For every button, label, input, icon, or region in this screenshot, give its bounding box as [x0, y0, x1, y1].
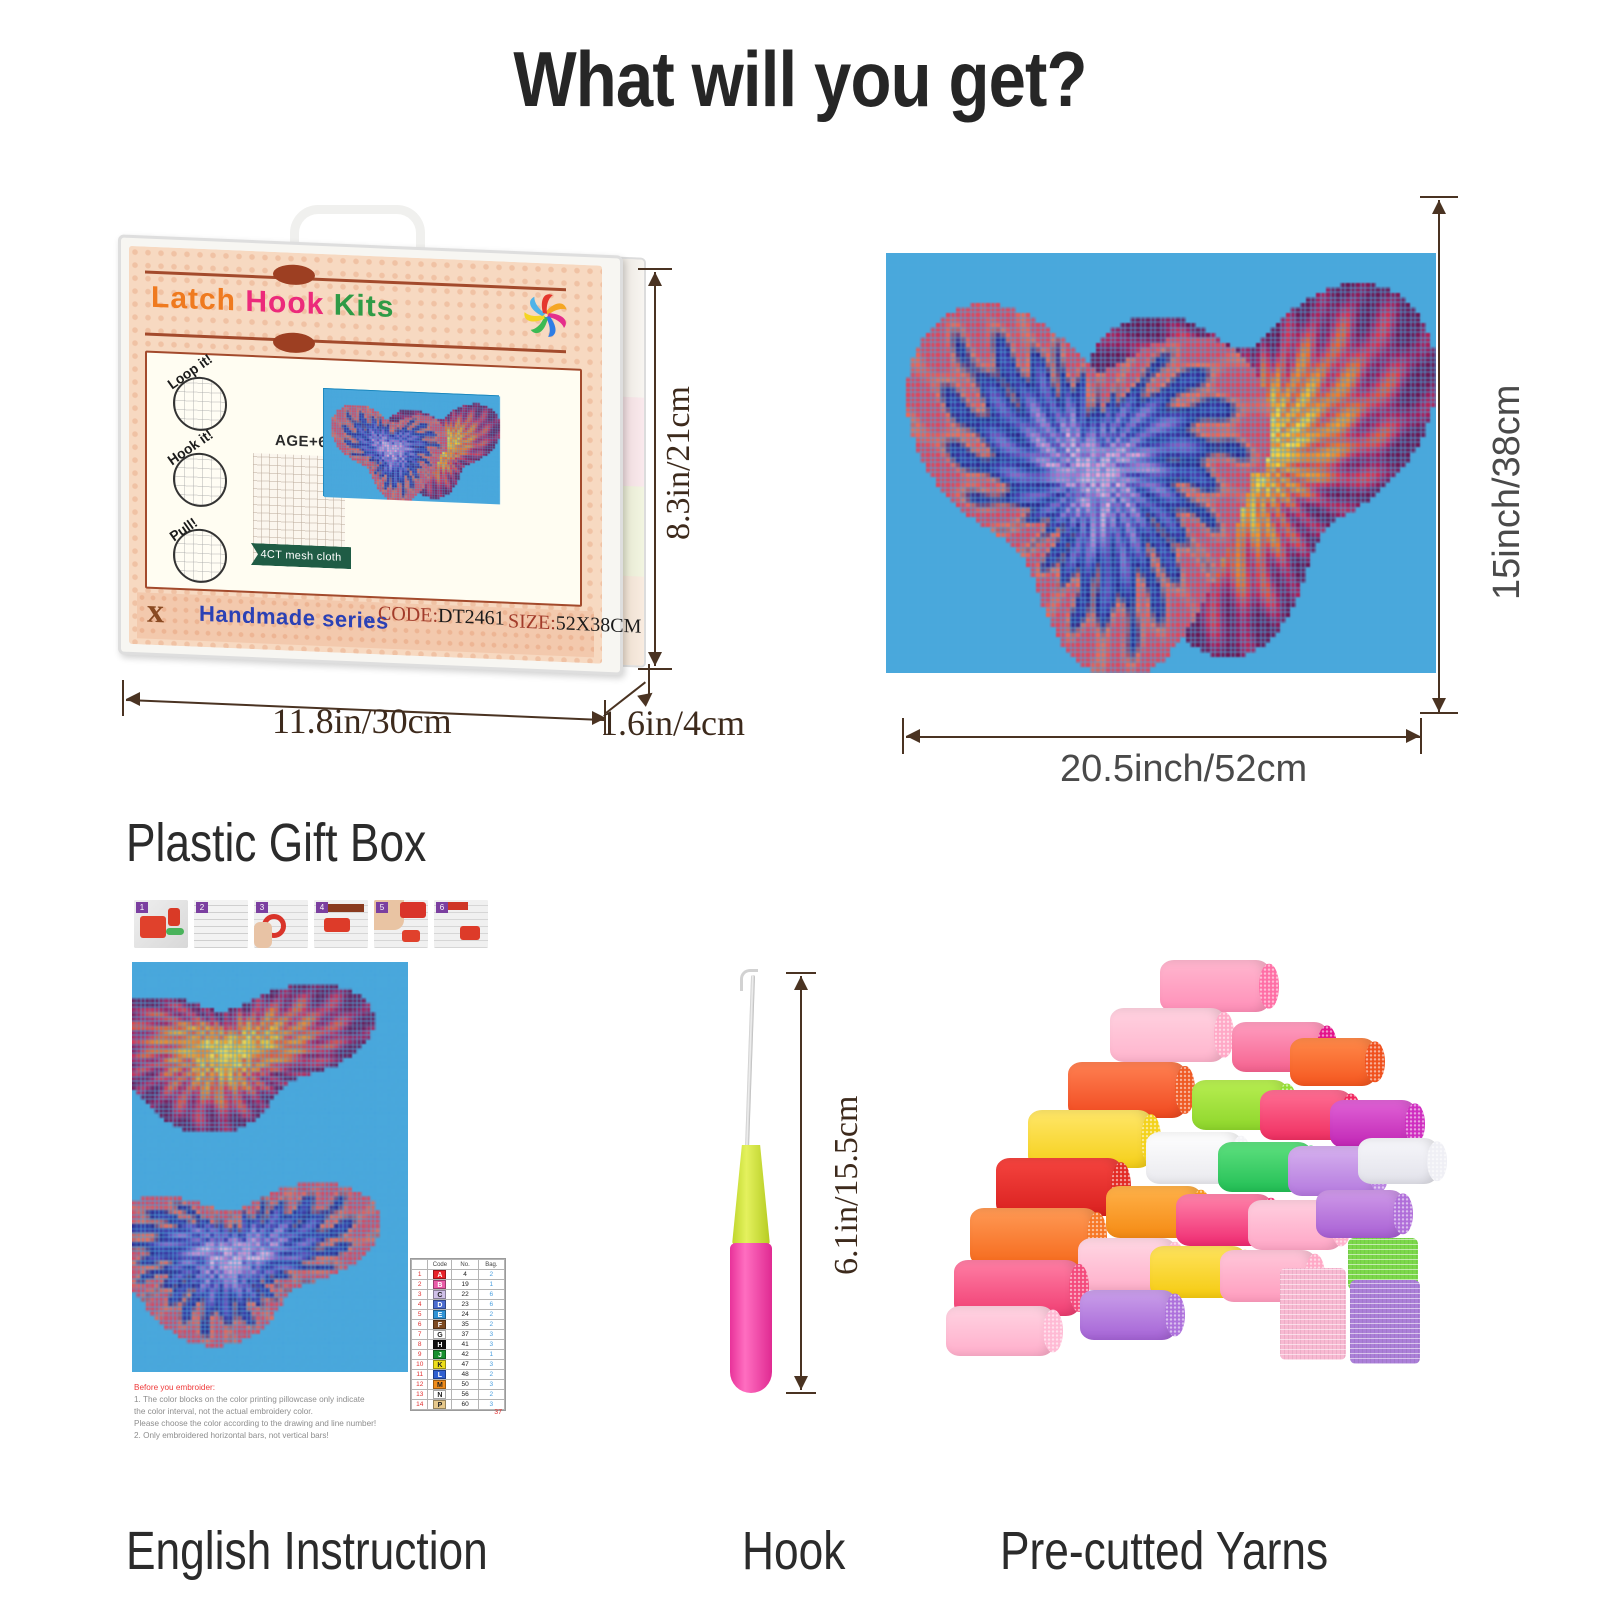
legend-index: 9	[412, 1350, 428, 1360]
legend-color-swatch: C	[428, 1290, 452, 1300]
hook-decoration-icon: x	[147, 595, 187, 635]
legend-bag: 1	[478, 1280, 504, 1290]
legend-row: 1A42	[412, 1270, 505, 1280]
legend-color-swatch: E	[428, 1310, 452, 1320]
legend-index: 1	[412, 1270, 428, 1280]
legend-bag: 3	[478, 1360, 504, 1370]
instruction-step-thumb: 1	[134, 900, 188, 948]
step-number: 6	[436, 902, 448, 913]
hook-handle-upper	[732, 1145, 770, 1245]
yarn-bundle	[1316, 1190, 1404, 1238]
legend-header-no: No.	[452, 1260, 478, 1270]
printed-canvas-artwork	[886, 253, 1436, 673]
legend-bag: 3	[478, 1330, 504, 1340]
legend-bag: 3	[478, 1380, 504, 1390]
legend-no: 4	[452, 1270, 478, 1280]
latch-hook-tool	[716, 965, 786, 1385]
instruction-step-thumb: 4	[314, 900, 368, 948]
yarn-mesh-bundle-purple	[1350, 1280, 1420, 1364]
legend-bag: 3	[478, 1400, 504, 1410]
legend-index: 6	[412, 1320, 428, 1330]
legend-color-swatch: N	[428, 1390, 452, 1400]
box-code: CODE:DT2461	[378, 602, 505, 711]
box-depth-value: 1.6in/4cm	[600, 702, 745, 744]
box-width-value: 11.8in/30cm	[272, 700, 452, 742]
instruction-chart-artwork	[132, 962, 408, 1372]
legend-color-swatch: L	[428, 1370, 452, 1380]
legend-row: 3C226	[412, 1290, 505, 1300]
legend-row: 8H413	[412, 1340, 505, 1350]
legend-header-row: Code No. Bag.	[412, 1260, 505, 1270]
box-front-panel: Latch Hook Kits	[129, 246, 602, 664]
legend-bag: 2	[478, 1270, 504, 1280]
legend-index: 13	[412, 1390, 428, 1400]
hook-needle	[745, 975, 755, 1150]
notes-heading: Before you embroider:	[134, 1382, 404, 1394]
brand-word-kits: Kits	[334, 288, 395, 324]
legend-row: 10K473	[412, 1360, 505, 1370]
legend-bag: 2	[478, 1390, 504, 1400]
legend-color-swatch: B	[428, 1280, 452, 1290]
legend-index: 5	[412, 1310, 428, 1320]
legend-header-bag: Bag.	[478, 1260, 504, 1270]
legend-header-index	[412, 1260, 428, 1270]
legend-row: 11L482	[412, 1370, 505, 1380]
canvas-width-value: 20.5inch/52cm	[1060, 748, 1307, 791]
legend-no: 50	[452, 1380, 478, 1390]
legend-color-swatch: P	[428, 1400, 452, 1410]
legend-bag: 2	[478, 1370, 504, 1380]
legend-index: 10	[412, 1360, 428, 1370]
box-code-key: CODE:	[378, 602, 438, 627]
instruction-notes: Before you embroider: 1. The color block…	[134, 1382, 404, 1441]
legend-no: 37	[452, 1330, 478, 1340]
notes-line-3: Please choose the color according to the…	[134, 1418, 404, 1430]
legend-row: 6F352	[412, 1320, 505, 1330]
color-legend-table: Code No. Bag. 1A422B1913C2264D2365E2426F…	[410, 1258, 506, 1411]
legend-row: 4D236	[412, 1300, 505, 1310]
box-size-key: SIZE:	[508, 610, 556, 634]
instruction-step-thumb: 3	[254, 900, 308, 948]
hook-length-value: 6.1in/15.5cm	[828, 1096, 866, 1275]
legend-color-swatch: G	[428, 1330, 452, 1340]
box-code-value: DT2461	[438, 605, 505, 630]
legend-bag: 6	[478, 1290, 504, 1300]
caption-english-instruction: English Instruction	[126, 1520, 488, 1582]
caption-yarns: Pre-cutted Yarns	[1000, 1520, 1328, 1582]
gift-box-illustration: Latch Hook Kits	[118, 205, 648, 675]
mesh-ribbon-label: 4CT mesh cloth	[251, 543, 351, 569]
legend-index: 11	[412, 1370, 428, 1380]
legend-bag: 6	[478, 1300, 504, 1310]
box-body: Latch Hook Kits	[118, 234, 623, 675]
legend-index: 8	[412, 1340, 428, 1350]
instruction-step-thumbnails: 1 2 3 4 5	[134, 900, 494, 950]
instruction-step-thumb: 5	[374, 900, 428, 948]
caption-gift-box: Plastic Gift Box	[126, 812, 426, 874]
hook-barb-icon	[740, 969, 758, 991]
handmade-series-label: Handmade series	[199, 601, 389, 635]
step-number: 2	[196, 902, 208, 913]
legend-no: 41	[452, 1340, 478, 1350]
legend-index: 12	[412, 1380, 428, 1390]
yarn-bundle	[1358, 1138, 1438, 1184]
hook-handle-lower	[730, 1243, 772, 1393]
legend-no: 24	[452, 1310, 478, 1320]
yarn-bundle	[1110, 1008, 1225, 1062]
legend-color-swatch: F	[428, 1320, 452, 1330]
yarn-bundle	[1080, 1290, 1176, 1340]
box-artwork-photo	[323, 388, 499, 503]
yarn-bundle	[1290, 1038, 1376, 1086]
pinwheel-logo-icon	[518, 286, 574, 344]
legend-total: 37	[494, 1409, 502, 1416]
legend-bag: 2	[478, 1310, 504, 1320]
legend-color-swatch: H	[428, 1340, 452, 1350]
yarn-mesh-bundle-pink	[1280, 1268, 1346, 1360]
pre-cutted-yarns-pile	[960, 950, 1460, 1410]
notes-line-4: 2. Only embroidered horizontal bars, not…	[134, 1430, 404, 1442]
box-size-value: 52X38CM	[556, 612, 642, 638]
legend-header-code: Code	[428, 1260, 452, 1270]
legend-row: 12M503	[412, 1380, 505, 1390]
brand-title: Latch Hook Kits	[151, 281, 394, 325]
legend-bag: 2	[478, 1320, 504, 1330]
box-inner-card: Loop it! Hook it! Pull! AGE+6 ! 4CT mesh…	[145, 351, 582, 607]
legend-no: 47	[452, 1360, 478, 1370]
yarn-bundle	[946, 1306, 1054, 1356]
legend-bag: 1	[478, 1350, 504, 1360]
notes-line-2: the color interval, not the actual embro…	[134, 1406, 404, 1418]
legend-no: 19	[452, 1280, 478, 1290]
legend-index: 2	[412, 1280, 428, 1290]
legend-no: 48	[452, 1370, 478, 1380]
legend-no: 60	[452, 1400, 478, 1410]
instruction-step-thumb: 2	[194, 900, 248, 948]
legend-row: 5E242	[412, 1310, 505, 1320]
legend-no: 23	[452, 1300, 478, 1310]
legend-row: 9J421	[412, 1350, 505, 1360]
infographic-page: What will you get? Latch Hook Kits	[0, 0, 1600, 1600]
legend-row: 7G373	[412, 1330, 505, 1340]
yarn-bundle	[1160, 960, 1270, 1012]
legend-color-swatch: A	[428, 1270, 452, 1280]
legend-index: 4	[412, 1300, 428, 1310]
legend-row: 13N562	[412, 1390, 505, 1400]
legend-no: 42	[452, 1350, 478, 1360]
legend-index: 14	[412, 1400, 428, 1410]
legend-color-swatch: M	[428, 1380, 452, 1390]
legend-color-swatch: K	[428, 1360, 452, 1370]
legend-row: 14P603	[412, 1400, 505, 1410]
notes-line-1: 1. The color blocks on the color printin…	[134, 1394, 404, 1406]
legend-color-swatch: J	[428, 1350, 452, 1360]
legend-bag: 3	[478, 1340, 504, 1350]
legend-no: 22	[452, 1290, 478, 1300]
series-mark: ”	[367, 616, 374, 631]
english-instruction-sheet: 1 2 3 4 5	[128, 900, 628, 1460]
legend-index: 7	[412, 1330, 428, 1340]
caption-hook: Hook	[742, 1520, 845, 1582]
step-number: 1	[136, 902, 148, 913]
legend-index: 3	[412, 1290, 428, 1300]
legend-no: 56	[452, 1390, 478, 1400]
step-number: 5	[376, 902, 388, 913]
legend-row: 2B191	[412, 1280, 505, 1290]
canvas-height-value: 15inch/38cm	[1486, 385, 1529, 600]
box-brand-bar: Latch Hook Kits	[145, 265, 592, 362]
step-number: 4	[316, 902, 328, 913]
brand-word-latch: Latch	[151, 281, 236, 318]
box-height-value: 8.3in/21cm	[660, 386, 698, 540]
legend-color-swatch: D	[428, 1300, 452, 1310]
step-number: 3	[256, 902, 268, 913]
page-title: What will you get?	[112, 34, 1488, 125]
legend-no: 35	[452, 1320, 478, 1330]
brand-word-hook: Hook	[245, 285, 324, 321]
instruction-step-thumb: 6	[434, 900, 488, 948]
